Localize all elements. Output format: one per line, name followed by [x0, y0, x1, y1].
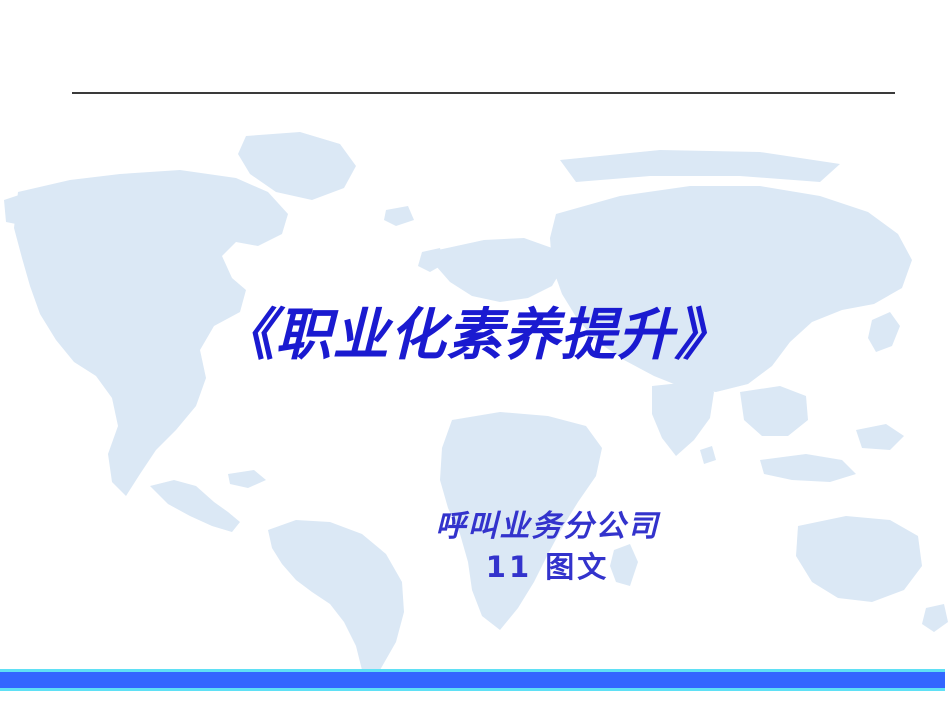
bottom-accent-bar — [0, 669, 945, 691]
top-divider-rule — [72, 92, 895, 94]
title-container: 《职业化素养提升》 — [0, 306, 950, 365]
organization-name: 呼叫业务分公司 — [145, 508, 950, 546]
document-code: 11 图文 — [145, 546, 950, 590]
page-title: 《职业化素养提升》 — [219, 306, 732, 365]
bottom-accent-bar-fill — [0, 669, 945, 691]
subtitle-container: 呼叫业务分公司 11 图文 — [0, 508, 950, 589]
title-slide: 《职业化素养提升》 呼叫业务分公司 11 图文 — [0, 0, 950, 713]
world-map-background — [0, 130, 950, 670]
